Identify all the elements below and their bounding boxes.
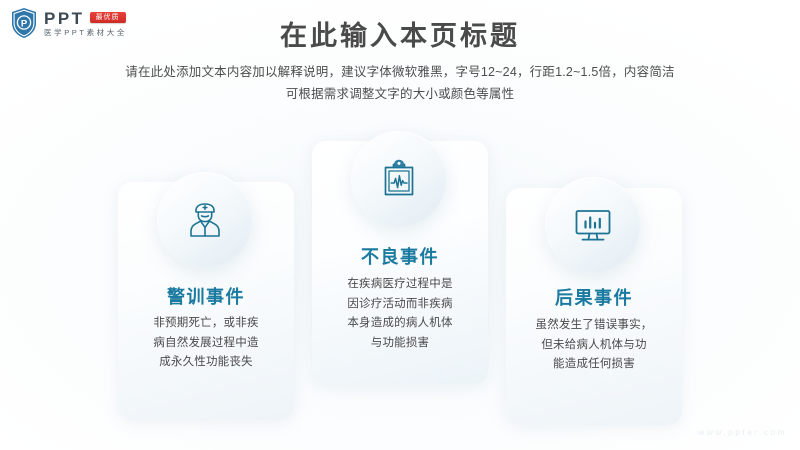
doctor-icon — [182, 197, 228, 243]
card-body-2-line-3: 本身造成的病人机体 — [321, 314, 479, 334]
card-body-2-line-2: 因诊疗活动而非疾病 — [321, 295, 479, 315]
card-body-1-line-2: 病自然发展过程中造 — [127, 334, 285, 354]
clipboard-ecg-icon — [376, 156, 422, 202]
card-title-2: 不良事件 — [312, 243, 488, 269]
card-title-1: 警训事件 — [118, 283, 294, 309]
icon-blob-2 — [351, 131, 447, 227]
card-body-2: 在疾病医疗过程中是 因诊疗活动而非疾病 本身造成的病人机体 与功能损害 — [321, 275, 479, 353]
card-body-2-line-4: 与功能损害 — [321, 334, 479, 354]
card-body-1-line-3: 成永久性功能丧失 — [127, 353, 285, 373]
slide-canvas: P PPT 最优质 医学PPT素材大全 在此输入本页标题 请在此处添加文本内容加… — [0, 0, 800, 450]
card-body-1: 非预期死亡，或非疾 病自然发展过程中造 成永久性功能丧失 — [127, 314, 285, 373]
card-body-3-line-3: 能造成任何损害 — [515, 355, 673, 375]
card-body-2-line-1: 在疾病医疗过程中是 — [321, 275, 479, 295]
card-body-3: 虽然发生了错误事实， 但未给病人机体与功 能造成任何损害 — [515, 316, 673, 375]
card-group: 警训事件 不良事件 后果事件 非预期死亡，或非疾 病自然发展过程中造 成永久性功… — [0, 0, 800, 450]
icon-blob-1 — [157, 172, 253, 268]
card-title-3: 后果事件 — [506, 284, 682, 310]
monitor-chart-icon — [570, 202, 616, 248]
card-body-3-line-1: 虽然发生了错误事实， — [515, 316, 673, 336]
card-body-1-line-1: 非预期死亡，或非疾 — [127, 314, 285, 334]
icon-blob-3 — [545, 177, 641, 273]
card-body-3-line-2: 但未给病人机体与功 — [515, 336, 673, 356]
footer-watermark: www.ppter.com — [698, 427, 787, 437]
